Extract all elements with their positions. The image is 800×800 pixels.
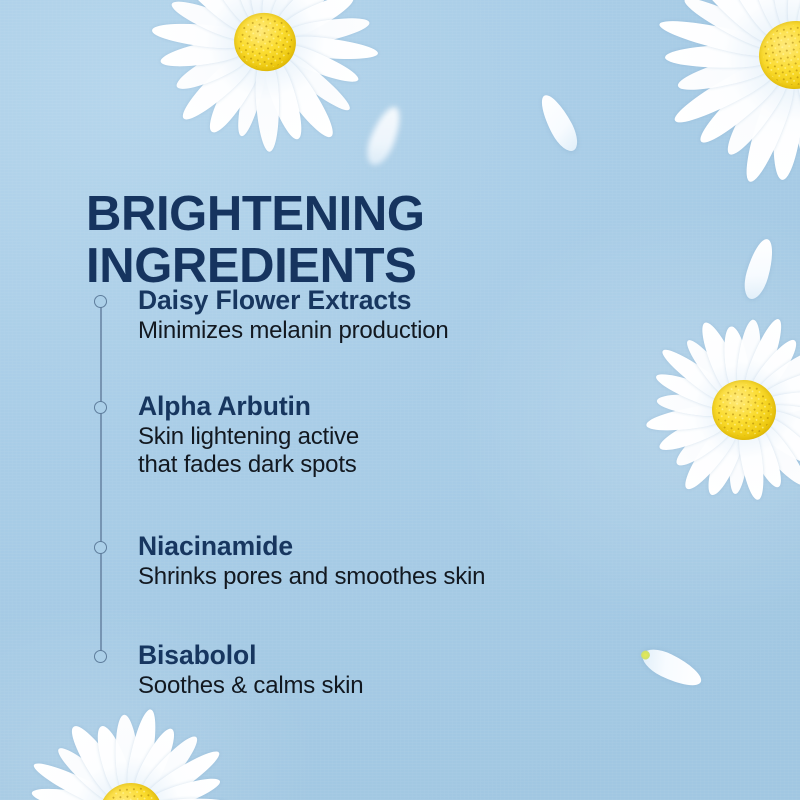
ingredient-item-bisabolol: Bisabolol Soothes & calms skin (138, 641, 363, 700)
timeline-node-3 (94, 541, 107, 554)
timeline-rail (100, 302, 102, 660)
ingredient-item-alpha-arbutin: Alpha Arbutin Skin lightening active tha… (138, 392, 359, 478)
content-layer: BRIGHTENING INGREDIENTS Daisy Flower Ext… (0, 0, 800, 800)
page-title-line-1: BRIGHTENING (86, 188, 606, 240)
ingredient-title: Daisy Flower Extracts (138, 286, 449, 316)
timeline-node-1 (94, 295, 107, 308)
ingredient-title: Niacinamide (138, 532, 485, 562)
ingredient-title: Alpha Arbutin (138, 392, 359, 422)
ingredient-title: Bisabolol (138, 641, 363, 671)
timeline-node-4 (94, 650, 107, 663)
poster-canvas: BRIGHTENING INGREDIENTS Daisy Flower Ext… (0, 0, 800, 800)
timeline-node-2 (94, 401, 107, 414)
ingredient-item-daisy-flower-extracts: Daisy Flower Extracts Minimizes melanin … (138, 286, 449, 345)
timeline-connector (94, 295, 108, 667)
ingredient-description: Soothes & calms skin (138, 672, 363, 700)
ingredient-description: Skin lightening active that fades dark s… (138, 423, 359, 479)
ingredient-description: Minimizes melanin production (138, 317, 449, 345)
ingredient-description: Shrinks pores and smoothes skin (138, 563, 485, 591)
page-title: BRIGHTENING INGREDIENTS (86, 188, 606, 293)
ingredient-item-niacinamide: Niacinamide Shrinks pores and smoothes s… (138, 532, 485, 591)
